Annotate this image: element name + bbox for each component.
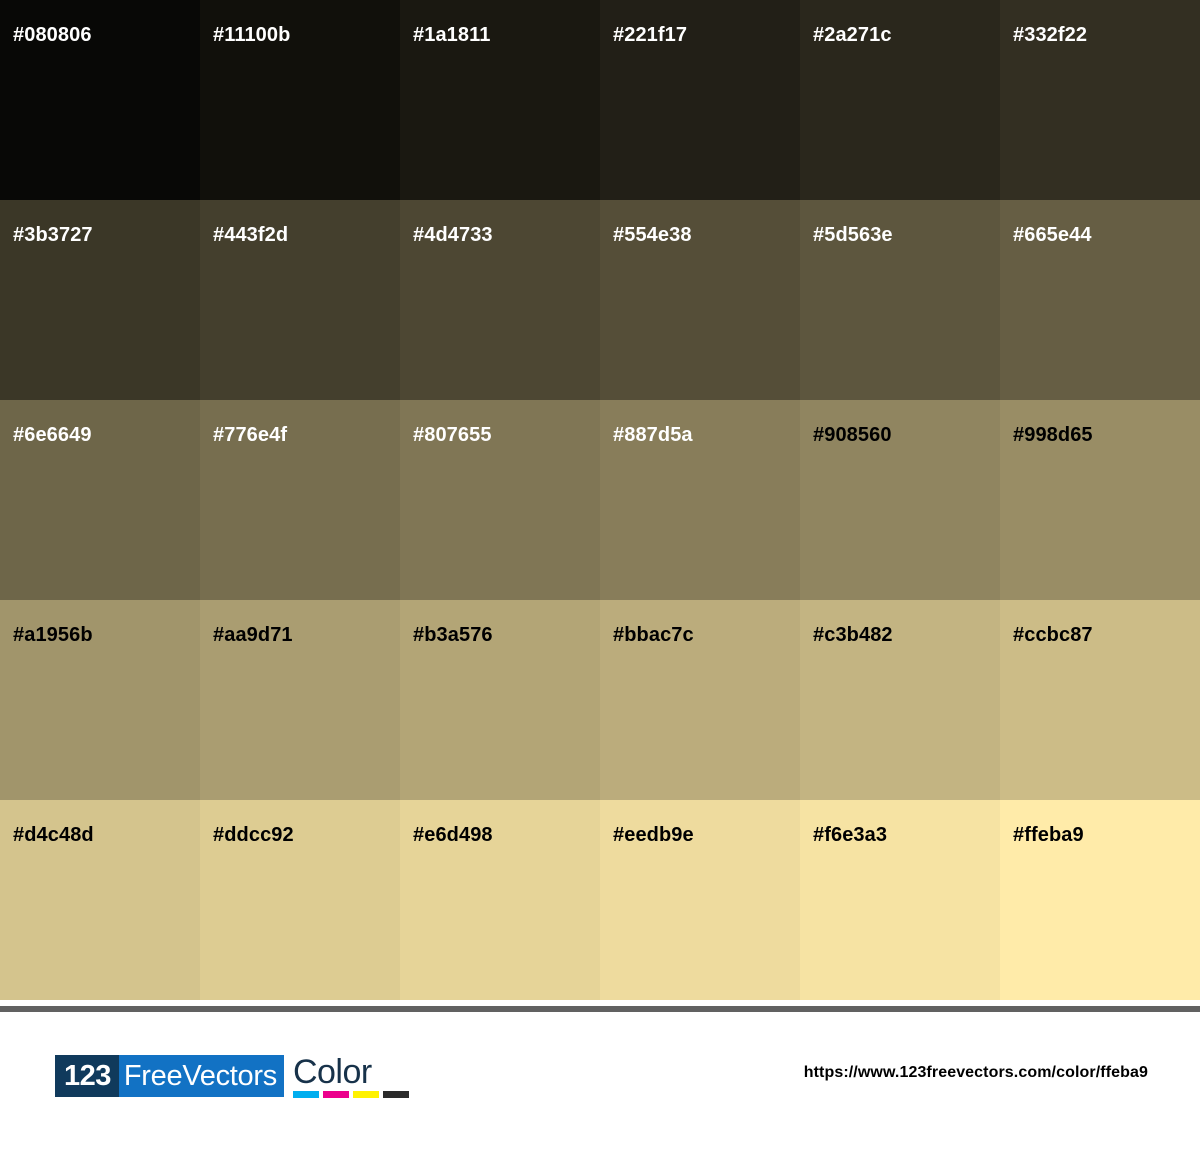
magenta-bar-icon (323, 1091, 349, 1098)
logo-123-text: 123 (55, 1055, 119, 1097)
logo-wordmark: 123 FreeVectors (55, 1055, 284, 1097)
color-swatch-hex-label: #221f17 (613, 25, 687, 45)
color-swatch[interactable]: #908560 (800, 400, 1000, 600)
color-swatch-hex-label: #d4c48d (13, 825, 94, 845)
color-swatch[interactable]: #bbac7c (600, 600, 800, 800)
color-swatch-hex-label: #ffeba9 (1013, 825, 1084, 845)
color-swatch-hex-label: #665e44 (1013, 225, 1092, 245)
color-swatch-hex-label: #eedb9e (613, 825, 694, 845)
color-swatch[interactable]: #5d563e (800, 200, 1000, 400)
color-swatch[interactable]: #b3a576 (400, 600, 600, 800)
color-swatch[interactable]: #aa9d71 (200, 600, 400, 800)
color-swatch[interactable]: #998d65 (1000, 400, 1200, 600)
cmyk-bars (292, 1091, 409, 1098)
color-swatch-hex-label: #3b3727 (13, 225, 93, 245)
color-swatch-hex-label: #f6e3a3 (813, 825, 887, 845)
color-swatch[interactable]: #6e6649 (0, 400, 200, 600)
color-swatch[interactable]: #f6e3a3 (800, 800, 1000, 1000)
color-swatch-hex-label: #998d65 (1013, 425, 1093, 445)
color-swatch-hex-label: #443f2d (213, 225, 288, 245)
color-swatch[interactable]: #1a1811 (400, 0, 600, 200)
color-swatch[interactable]: #2a271c (800, 0, 1000, 200)
color-swatch[interactable]: #eedb9e (600, 800, 800, 1000)
color-swatch[interactable]: #ffeba9 (1000, 800, 1200, 1000)
color-swatch-hex-label: #1a1811 (413, 25, 490, 45)
color-swatch-hex-label: #080806 (13, 25, 92, 45)
color-swatch[interactable]: #221f17 (600, 0, 800, 200)
color-swatch[interactable]: #a1956b (0, 600, 200, 800)
color-swatch-hex-label: #c3b482 (813, 625, 893, 645)
color-swatch-hex-label: #554e38 (613, 225, 692, 245)
color-swatch-hex-label: #bbac7c (613, 625, 694, 645)
color-swatch-hex-label: #887d5a (613, 425, 693, 445)
color-swatch[interactable]: #332f22 (1000, 0, 1200, 200)
cyan-bar-icon (293, 1091, 319, 1098)
color-swatch-hex-label: #4d4733 (413, 225, 493, 245)
color-palette-page: #080806#11100b#1a1811#221f17#2a271c#332f… (0, 0, 1200, 1150)
color-swatch-hex-label: #5d563e (813, 225, 893, 245)
color-swatch-hex-label: #ccbc87 (1013, 625, 1093, 645)
logo-color-group: Color (292, 1055, 409, 1098)
color-swatch-hex-label: #807655 (413, 425, 492, 445)
color-swatch[interactable]: #080806 (0, 0, 200, 200)
color-swatch[interactable]: #d4c48d (0, 800, 200, 1000)
color-swatch-hex-label: #332f22 (1013, 25, 1087, 45)
footer-url[interactable]: https://www.123freevectors.com/color/ffe… (804, 1064, 1148, 1082)
color-swatch[interactable]: #c3b482 (800, 600, 1000, 800)
logo-freevectors-text: FreeVectors (119, 1055, 284, 1097)
black-bar-icon (383, 1091, 409, 1098)
color-swatch[interactable]: #3b3727 (0, 200, 200, 400)
color-swatch[interactable]: #665e44 (1000, 200, 1200, 400)
color-swatch[interactable]: #ccbc87 (1000, 600, 1200, 800)
color-swatch-hex-label: #a1956b (13, 625, 93, 645)
swatch-grid: #080806#11100b#1a1811#221f17#2a271c#332f… (0, 0, 1200, 1000)
color-swatch-hex-label: #2a271c (813, 25, 892, 45)
color-swatch-hex-label: #776e4f (213, 425, 287, 445)
color-swatch[interactable]: #807655 (400, 400, 600, 600)
color-swatch[interactable]: #e6d498 (400, 800, 600, 1000)
color-swatch-hex-label: #908560 (813, 425, 892, 445)
yellow-bar-icon (353, 1091, 379, 1098)
color-swatch-hex-label: #b3a576 (413, 625, 493, 645)
brand-logo[interactable]: 123 FreeVectors Color (55, 1055, 409, 1099)
color-swatch[interactable]: #11100b (200, 0, 400, 200)
color-swatch-hex-label: #e6d498 (413, 825, 493, 845)
color-swatch[interactable]: #776e4f (200, 400, 400, 600)
color-swatch-hex-label: #aa9d71 (213, 625, 293, 645)
color-swatch-hex-label: #ddcc92 (213, 825, 294, 845)
color-swatch[interactable]: #443f2d (200, 200, 400, 400)
color-swatch-hex-label: #6e6649 (13, 425, 92, 445)
color-swatch[interactable]: #554e38 (600, 200, 800, 400)
color-swatch[interactable]: #887d5a (600, 400, 800, 600)
color-swatch[interactable]: #4d4733 (400, 200, 600, 400)
color-swatch[interactable]: #ddcc92 (200, 800, 400, 1000)
logo-color-text: Color (292, 1055, 409, 1089)
color-swatch-hex-label: #11100b (213, 25, 290, 45)
